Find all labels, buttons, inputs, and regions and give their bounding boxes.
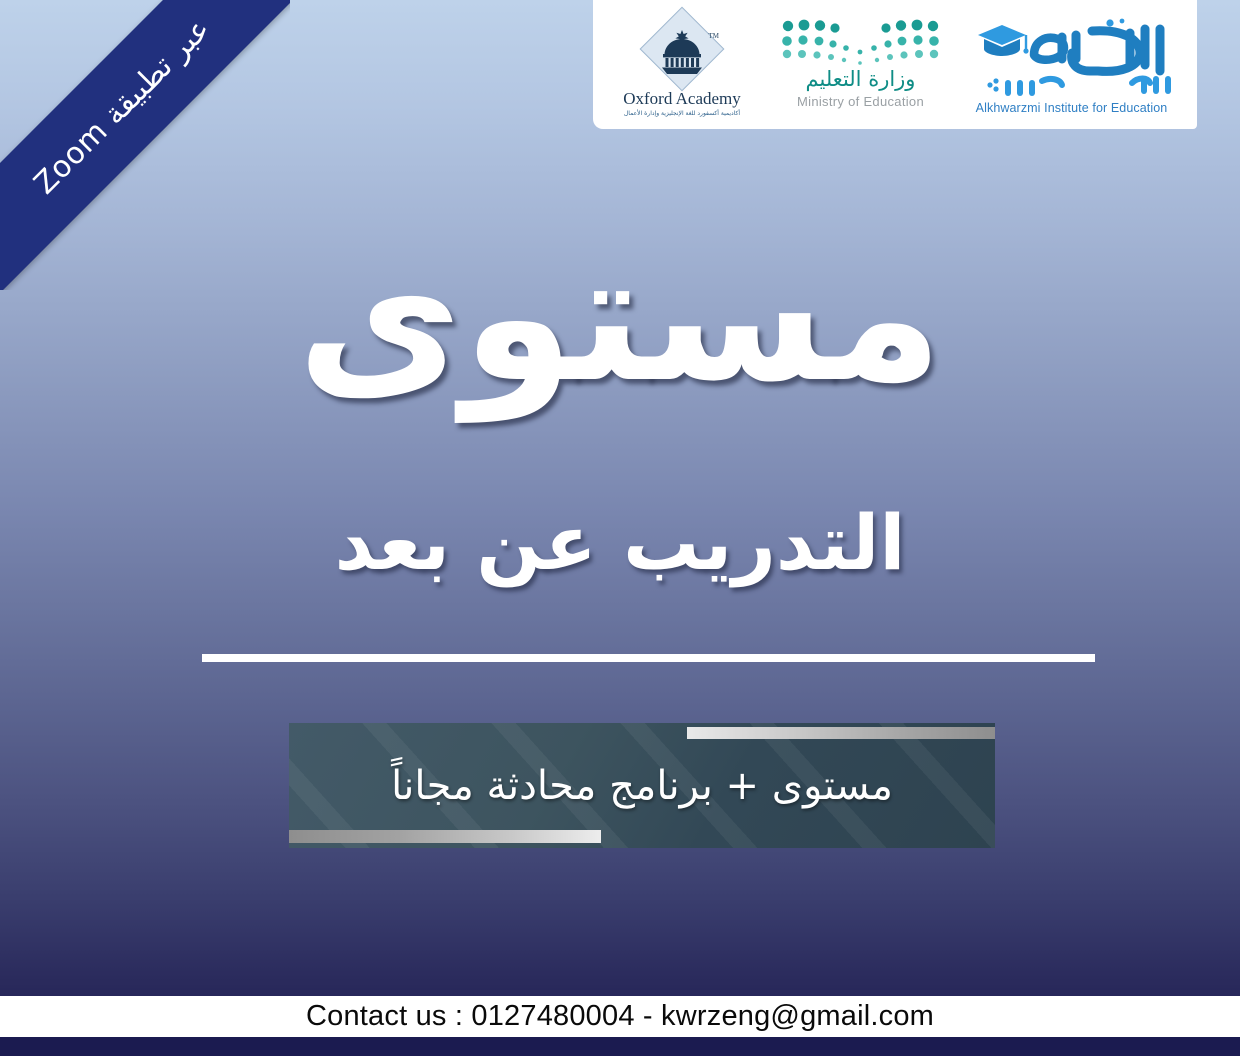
ministry-english-name: Ministry of Education <box>797 94 924 109</box>
banner-accent-bar-top <box>687 727 995 739</box>
horizontal-divider <box>202 654 1095 662</box>
trademark-symbol: TM <box>709 32 720 40</box>
palm-dots-icon <box>778 19 943 65</box>
logo-oxford-academy: TM Oxford Academy أكاديمية أكسفورد للغة … <box>607 10 757 117</box>
logo-alkhwarzmi-institute: Alkhwarzmi Institute for Education <box>964 13 1179 115</box>
logo-ministry-of-education: وزارة التعليم Ministry of Education <box>763 19 958 109</box>
graduation-cap-icon <box>978 25 1029 56</box>
oxford-name: Oxford Academy <box>623 89 741 109</box>
footer-bottom-bar <box>0 1037 1240 1056</box>
ribbon-label: عبر تطبيقة Zoom <box>27 11 217 201</box>
dome-building-icon <box>659 30 705 74</box>
offer-banner: مستوى + برنامج محادثة مجاناً <box>289 723 995 848</box>
oxford-dome-icon: TM <box>643 10 721 88</box>
logo-panel: TM Oxford Academy أكاديمية أكسفورد للغة … <box>593 0 1197 129</box>
alkhwarzmi-calligraphy-icon <box>972 13 1172 101</box>
contact-info-text: Contact us : 0127480004 - kwrzeng@gmail.… <box>306 1000 934 1033</box>
oxford-arabic-subtitle: أكاديمية أكسفورد للغة الإنجليزية وإدارة … <box>624 110 740 117</box>
poster-canvas: عبر تطبيقة Zoom <box>0 0 1240 1056</box>
alkhwarzmi-english-name: Alkhwarzmi Institute for Education <box>976 101 1168 115</box>
banner-accent-bar-bottom <box>289 830 601 843</box>
page-subtitle: التدريب عن بعد <box>0 505 1240 581</box>
ministry-arabic-name: وزارة التعليم <box>806 67 916 91</box>
footer-contact-bar: Contact us : 0127480004 - kwrzeng@gmail.… <box>0 996 1240 1037</box>
offer-banner-text: مستوى + برنامج محادثة مجاناً <box>289 763 995 809</box>
page-title: مستوى <box>0 228 1240 408</box>
